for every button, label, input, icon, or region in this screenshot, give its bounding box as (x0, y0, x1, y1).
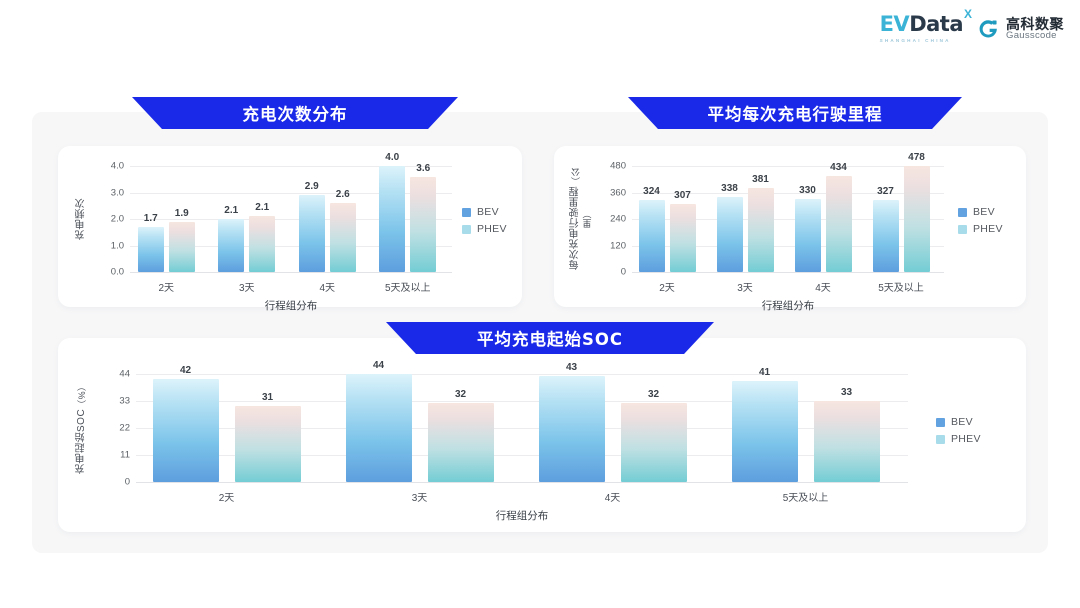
legend-item-bev[interactable]: BEV (958, 206, 1003, 218)
x-axis-tick-label: 2天 (659, 279, 675, 294)
y-axis-unit: （%） (77, 382, 87, 410)
slide-root: EVData X SHANGHAI CHINA 高科数聚 Gausscode 充… (0, 0, 1080, 608)
legend-item-bev[interactable]: BEV (462, 206, 507, 218)
x-axis-line (632, 272, 944, 273)
x-axis-tick-label: 4天 (605, 489, 621, 504)
x-axis-label: 行程组分布 (762, 298, 815, 313)
bar-bev-3天 (218, 219, 244, 272)
bar-phev-2天 (670, 204, 696, 272)
bar-value-label: 2.1 (255, 202, 269, 213)
x-axis-tick-label: 5天及以上 (783, 489, 829, 504)
bar-bev-2天 (153, 379, 219, 482)
bar-value-label: 32 (455, 389, 466, 400)
chart-title-2: 平均每次充电行驶里程 (708, 101, 883, 125)
x-axis-tick-label: 4天 (319, 279, 335, 294)
y-axis-tick-label: 2.0 (92, 214, 124, 225)
y-axis-tick-label: 3.0 (92, 187, 124, 198)
x-axis-tick-label: 5天及以上 (385, 279, 431, 294)
chart-distance-per-charge: 每次充电行驶里程（公里）01202403604803243072天3383813… (554, 146, 1026, 307)
chart-legend: BEVPHEV (462, 206, 507, 235)
evdata-suffix: Data (909, 12, 963, 36)
chart-title-banner-3: 平均充电起始SOC (386, 322, 714, 354)
legend-swatch-icon (462, 225, 471, 234)
bar-value-label: 2.1 (224, 205, 238, 216)
bar-bev-3天 (717, 197, 743, 272)
bar-value-label: 2.6 (336, 189, 350, 200)
x-axis-tick-label: 5天及以上 (878, 279, 924, 294)
legend-item-phev[interactable]: PHEV (958, 223, 1003, 235)
bar-value-label: 1.9 (175, 208, 189, 219)
chart-start-soc: 充电起始SOC（%）01122334442312天44323天43324天413… (58, 338, 1026, 532)
bar-value-label: 3.6 (416, 163, 430, 174)
bar-phev-2天 (169, 222, 195, 272)
y-axis-tick-label: 0.0 (92, 267, 124, 278)
y-axis-tick-label: 480 (594, 161, 626, 172)
bar-value-label: 327 (877, 186, 894, 197)
legend-item-bev[interactable]: BEV (936, 416, 981, 428)
bar-value-label: 307 (674, 190, 691, 201)
bar-phev-4天 (826, 176, 852, 272)
y-axis-tick-label: 44 (98, 369, 130, 380)
bar-phev-3天 (428, 403, 494, 482)
x-axis-tick-label: 2天 (158, 279, 174, 294)
chart-legend: BEVPHEV (958, 206, 1003, 235)
bar-value-label: 381 (752, 174, 769, 185)
gridline (632, 166, 944, 167)
bar-value-label: 33 (841, 387, 852, 398)
legend-swatch-icon (936, 435, 945, 444)
brand-bar: EVData X SHANGHAI CHINA 高科数聚 Gausscode (880, 14, 1064, 43)
bar-phev-4天 (621, 403, 687, 482)
x-axis-line (130, 272, 452, 273)
bar-bev-5天及以上 (873, 200, 899, 272)
gausscode-en: Gausscode (1006, 31, 1064, 41)
y-axis-label: 每次充电行驶里程（公里） (570, 166, 596, 272)
bar-value-label: 43 (566, 362, 577, 373)
legend-label: PHEV (951, 433, 981, 445)
legend-label: BEV (477, 206, 499, 218)
x-axis-label: 行程组分布 (496, 508, 549, 523)
bar-value-label: 324 (643, 186, 660, 197)
bar-bev-5天及以上 (379, 166, 405, 272)
bar-phev-5天及以上 (904, 166, 930, 272)
bar-value-label: 330 (799, 185, 816, 196)
y-axis-tick-label: 22 (98, 423, 130, 434)
bar-bev-4天 (299, 195, 325, 272)
y-axis-tick-label: 0 (594, 267, 626, 278)
legend-label: BEV (951, 416, 973, 428)
legend-swatch-icon (958, 225, 967, 234)
legend-swatch-icon (462, 208, 471, 217)
x-axis-tick-label: 3天 (239, 279, 255, 294)
legend-swatch-icon (936, 418, 945, 427)
bar-phev-3天 (748, 188, 774, 272)
bar-phev-3天 (249, 216, 275, 272)
evdata-prefix: EV (880, 12, 910, 36)
gausscode-logo: 高科数聚 Gausscode (977, 17, 1064, 41)
chart-title-1: 充电次数分布 (243, 101, 348, 125)
bar-value-label: 32 (648, 389, 659, 400)
x-axis-tick-label: 4天 (815, 279, 831, 294)
bar-phev-5天及以上 (410, 177, 436, 272)
bar-value-label: 44 (373, 360, 384, 371)
bar-value-label: 2.9 (305, 181, 319, 192)
y-axis-tick-label: 33 (98, 396, 130, 407)
bar-bev-2天 (639, 200, 665, 272)
bar-bev-4天 (539, 376, 605, 482)
legend-label: BEV (973, 206, 995, 218)
chart-charging-frequency: 充电频次0.01.02.03.04.01.71.92天2.12.13天2.92.… (58, 146, 522, 307)
chart-title-3: 平均充电起始SOC (477, 326, 623, 350)
bar-bev-4天 (795, 199, 821, 272)
bar-value-label: 41 (759, 367, 770, 378)
x-axis-tick-label: 2天 (219, 489, 235, 504)
x-axis-tick-label: 3天 (737, 279, 753, 294)
bar-phev-5天及以上 (814, 401, 880, 482)
gausscode-text: 高科数聚 Gausscode (1006, 17, 1064, 41)
bar-phev-2天 (235, 406, 301, 482)
evdata-wordmark: EVData (880, 14, 963, 35)
bar-bev-3天 (346, 374, 412, 482)
y-axis-tick-label: 11 (98, 450, 130, 461)
legend-swatch-icon (958, 208, 967, 217)
bar-value-label: 31 (262, 392, 273, 403)
y-axis-unit: （公里） (571, 168, 593, 229)
bar-bev-2天 (138, 227, 164, 272)
legend-item-phev[interactable]: PHEV (936, 433, 981, 445)
chart-card-start-soc: 充电起始SOC（%）01122334442312天44323天43324天413… (58, 338, 1026, 532)
bar-bev-5天及以上 (732, 381, 798, 482)
y-axis-tick-label: 240 (594, 214, 626, 225)
chart-title-banner-2: 平均每次充电行驶里程 (628, 97, 962, 129)
bar-value-label: 478 (908, 152, 925, 163)
gausscode-mark-icon (977, 17, 1000, 40)
evdata-superscript-x-icon: X (964, 8, 972, 20)
y-axis-tick-label: 120 (594, 240, 626, 251)
x-axis-label: 行程组分布 (265, 298, 318, 313)
chart-title-banner-1: 充电次数分布 (132, 97, 458, 129)
bar-value-label: 338 (721, 183, 738, 194)
y-axis-tick-label: 4.0 (92, 161, 124, 172)
bar-value-label: 434 (830, 162, 847, 173)
y-axis-tick-label: 1.0 (92, 240, 124, 251)
bar-value-label: 42 (180, 365, 191, 376)
legend-label: PHEV (973, 223, 1003, 235)
y-axis-tick-label: 0 (98, 477, 130, 488)
chart-card-distance-per-charge: 每次充电行驶里程（公里）01202403604803243072天3383813… (554, 146, 1026, 307)
legend-label: PHEV (477, 223, 507, 235)
evdata-logo: EVData X SHANGHAI CHINA (880, 14, 963, 43)
evdata-tagline: SHANGHAI CHINA (880, 38, 951, 43)
bar-value-label: 1.7 (144, 213, 158, 224)
gausscode-cn: 高科数聚 (1006, 17, 1064, 31)
bar-phev-4天 (330, 203, 356, 272)
x-axis-line (136, 482, 908, 483)
bar-value-label: 4.0 (385, 152, 399, 163)
chart-card-charging-frequency: 充电频次0.01.02.03.04.01.71.92天2.12.13天2.92.… (58, 146, 522, 307)
chart-legend: BEVPHEV (936, 416, 981, 445)
legend-item-phev[interactable]: PHEV (462, 223, 507, 235)
gridline (136, 374, 908, 375)
x-axis-tick-label: 3天 (412, 489, 428, 504)
y-axis-tick-label: 360 (594, 187, 626, 198)
